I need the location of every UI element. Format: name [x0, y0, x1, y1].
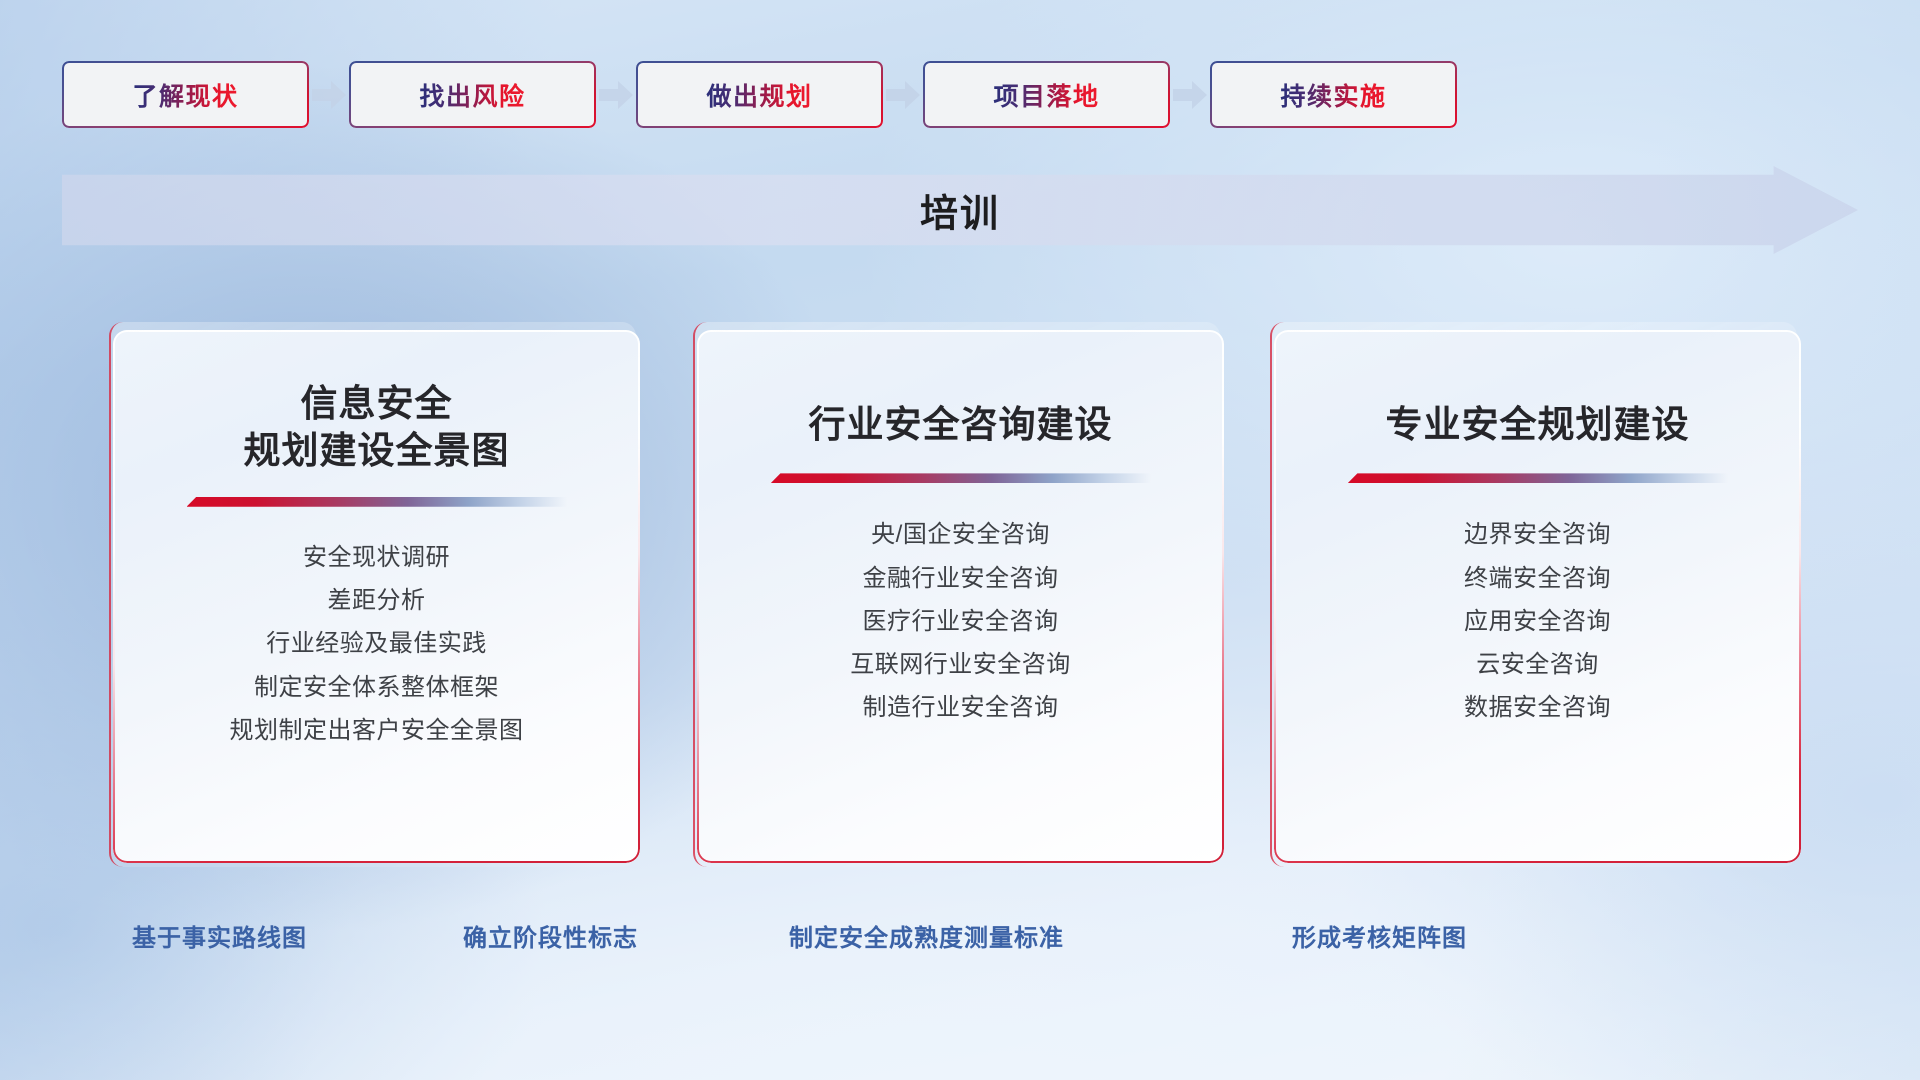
card-title: 信息安全规划建设全景图 [244, 380, 510, 475]
card-title-line: 规划建设全景图 [244, 427, 510, 474]
card-item-list: 安全现状调研差距分析行业经验及最佳实践制定安全体系整体框架规划制定出客户安全全景… [147, 537, 606, 751]
training-banner-label: 培训 [62, 183, 1858, 238]
card-content: 信息安全规划建设全景图安全现状调研差距分析行业经验及最佳实践制定安全体系整体框架… [113, 330, 640, 863]
card-item-list: 央/国企安全咨询金融行业安全咨询医疗行业安全咨询互联网行业安全咨询制造行业安全咨… [731, 514, 1190, 728]
card-title: 行业安全咨询建设 [809, 401, 1113, 448]
card-content: 行业安全咨询建设央/国企安全咨询金融行业安全咨询医疗行业安全咨询互联网行业安全咨… [697, 330, 1224, 863]
step-button-4[interactable]: 项目落地 [923, 61, 1170, 128]
card-panel: 行业安全咨询建设央/国企安全咨询金融行业安全咨询医疗行业安全咨询互联网行业安全咨… [697, 330, 1224, 863]
card-list-item: 互联网行业安全咨询 [850, 644, 1071, 685]
card-list-item: 云安全咨询 [1476, 644, 1599, 685]
footnote-row: 基于事实路线图确立阶段性标志制定安全成熟度测量标准形成考核矩阵图 [0, 918, 1920, 962]
card-list-item: 制定安全体系整体框架 [254, 667, 499, 708]
training-banner: 培训 [62, 166, 1858, 254]
card-title: 专业安全规划建设 [1386, 401, 1690, 448]
step-label: 项目落地 [993, 77, 1099, 113]
card-divider [1348, 473, 1728, 483]
step-label: 持续实施 [1280, 77, 1386, 113]
footnote-label-3: 制定安全成熟度测量标准 [789, 918, 1064, 953]
card-list-item: 应用安全咨询 [1464, 601, 1611, 642]
footnote-label-4: 形成考核矩阵图 [1292, 918, 1467, 953]
card-list-item: 数据安全咨询 [1464, 687, 1611, 728]
step-label: 找出风险 [419, 77, 525, 113]
card-divider-bar [1348, 473, 1728, 483]
card-divider-bar [187, 497, 567, 507]
card-divider [771, 473, 1151, 483]
footnote-label-2: 确立阶段性标志 [463, 918, 638, 953]
card-list-item: 金融行业安全咨询 [863, 558, 1059, 599]
card-divider [187, 497, 567, 507]
card-content: 专业安全规划建设边界安全咨询终端安全咨询应用安全咨询云安全咨询数据安全咨询 [1274, 330, 1801, 863]
step-button-3[interactable]: 做出规划 [636, 61, 883, 128]
service-card-group: 信息安全规划建设全景图安全现状调研差距分析行业经验及最佳实践制定安全体系整体框架… [0, 330, 1920, 910]
card-item-list: 边界安全咨询终端安全咨询应用安全咨询云安全咨询数据安全咨询 [1308, 514, 1767, 728]
card-list-item: 行业经验及最佳实践 [266, 623, 487, 664]
card-panel: 专业安全规划建设边界安全咨询终端安全咨询应用安全咨询云安全咨询数据安全咨询 [1274, 330, 1801, 863]
card-panel: 信息安全规划建设全景图安全现状调研差距分析行业经验及最佳实践制定安全体系整体框架… [113, 330, 640, 863]
service-card-3[interactable]: 专业安全规划建设边界安全咨询终端安全咨询应用安全咨询云安全咨询数据安全咨询 [1274, 330, 1801, 863]
arrow-right-icon [309, 78, 349, 112]
step-button-5[interactable]: 持续实施 [1210, 61, 1457, 128]
arrow-right-icon [1170, 78, 1210, 112]
arrow-right-icon [883, 78, 923, 112]
step-label: 了解现状 [132, 77, 238, 113]
step-label: 做出规划 [706, 77, 812, 113]
card-list-item: 规划制定出客户安全全景图 [230, 710, 524, 751]
card-list-item: 终端安全咨询 [1464, 558, 1611, 599]
card-divider-bar [771, 473, 1151, 483]
card-list-item: 制造行业安全咨询 [863, 687, 1059, 728]
card-list-item: 差距分析 [328, 580, 426, 621]
arrow-right-icon [596, 78, 636, 112]
card-title-line: 行业安全咨询建设 [809, 401, 1113, 448]
card-list-item: 安全现状调研 [303, 537, 450, 578]
card-list-item: 医疗行业安全咨询 [863, 601, 1059, 642]
step-button-1[interactable]: 了解现状 [62, 61, 309, 128]
card-title-line: 专业安全规划建设 [1386, 401, 1690, 448]
step-button-2[interactable]: 找出风险 [349, 61, 596, 128]
card-list-item: 边界安全咨询 [1464, 514, 1611, 555]
process-step-flow: 了解现状找出风险做出规划项目落地持续实施 [62, 61, 1858, 128]
card-title-line: 信息安全 [244, 380, 510, 427]
service-card-1[interactable]: 信息安全规划建设全景图安全现状调研差距分析行业经验及最佳实践制定安全体系整体框架… [113, 330, 640, 863]
footnote-label-1: 基于事实路线图 [132, 918, 307, 953]
card-list-item: 央/国企安全咨询 [871, 514, 1050, 555]
service-card-2[interactable]: 行业安全咨询建设央/国企安全咨询金融行业安全咨询医疗行业安全咨询互联网行业安全咨… [697, 330, 1224, 863]
